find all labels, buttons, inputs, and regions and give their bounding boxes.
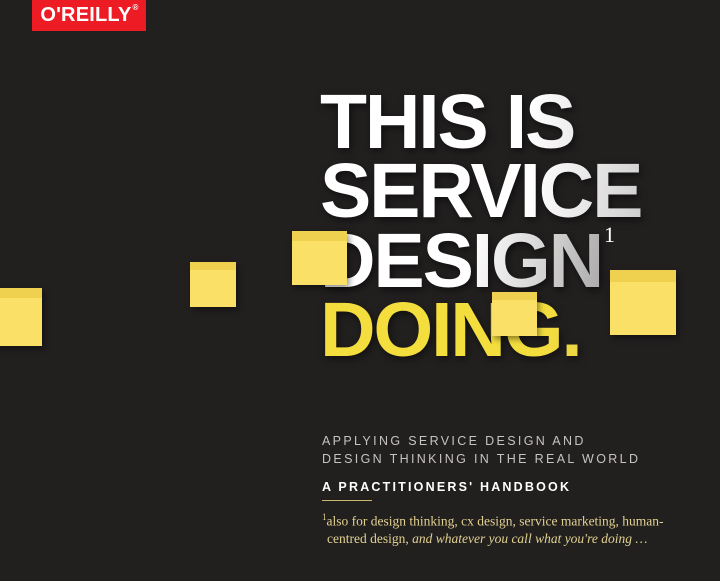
- footnote-text-italic: and whatever you call what you're doing …: [412, 531, 647, 546]
- sticky-note-adhesive-strip: [610, 270, 676, 282]
- subtitle-handbook-line: A PRACTITIONERS' HANDBOOK: [322, 480, 640, 494]
- sticky-note-over-g: [492, 292, 537, 336]
- book-cover: O'REILLY® THIS IS SERVICE DESIGN1 DOING.…: [0, 0, 720, 581]
- oreilly-logo-badge: O'REILLY®: [32, 0, 146, 31]
- subtitle-line-1: APPLYING SERVICE DESIGN AND: [322, 432, 640, 450]
- footnote-text: 1also for design thinking, cx design, se…: [322, 509, 682, 547]
- subtitle-line-2: DESIGN THINKING IN THE REAL WORLD: [322, 450, 640, 468]
- oreilly-wordmark: O'REILLY®: [40, 5, 137, 25]
- sticky-note-far-left: [190, 262, 236, 307]
- title-line-service: SERVICE: [320, 157, 720, 226]
- sticky-note-adhesive-strip: [492, 292, 537, 300]
- oreilly-name: O'REILLY: [40, 4, 131, 26]
- sticky-note-left-edge: [0, 288, 42, 346]
- registered-trademark-icon: ®: [133, 3, 139, 12]
- footnote: 1also for design thinking, cx design, se…: [322, 500, 682, 547]
- title-footnote-marker: 1: [604, 222, 615, 247]
- sticky-note-over-d: [292, 231, 347, 285]
- sticky-note-adhesive-strip: [292, 231, 347, 241]
- book-subtitle: APPLYING SERVICE DESIGN AND DESIGN THINK…: [322, 432, 640, 494]
- sticky-note-adhesive-strip: [190, 262, 236, 270]
- footnote-divider: [322, 500, 372, 501]
- sticky-note-adhesive-strip: [0, 288, 42, 298]
- sticky-note-right: [610, 270, 676, 335]
- title-line-this-is: THIS IS: [320, 88, 720, 157]
